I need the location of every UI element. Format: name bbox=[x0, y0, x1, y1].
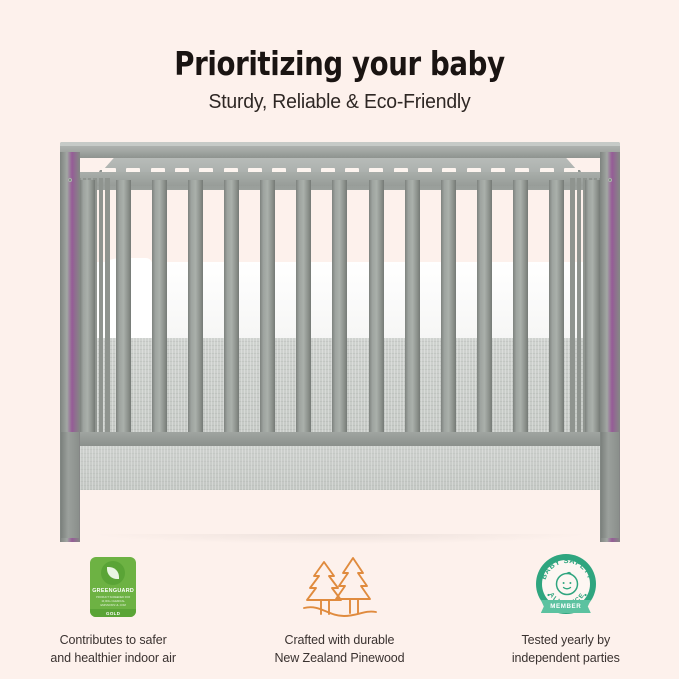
baby-safety-alliance-seal-icon: BABY SAFETY ALLIANCE M bbox=[535, 552, 597, 622]
crib-front-slats bbox=[80, 180, 600, 438]
greenguard-emblem bbox=[101, 561, 125, 585]
pine-trees-icon bbox=[298, 552, 380, 622]
crib-lower-panel bbox=[80, 446, 600, 490]
crib-leg-right bbox=[601, 432, 619, 538]
marketing-image: Prioritizing your baby Sturdy, Reliable … bbox=[0, 0, 679, 679]
badge-caption: Contributes to safer and healthier indoo… bbox=[50, 632, 175, 668]
badge-caption-line1: Contributes to safer bbox=[50, 632, 175, 650]
badge-baby-safety: BABY SAFETY ALLIANCE M bbox=[453, 552, 679, 668]
lower-panel-texture bbox=[80, 446, 600, 490]
greenguard-fineprint: PRODUCT SCREENED FOR 10,000+ CHEMICAL EM… bbox=[94, 596, 132, 608]
crib-bottom-rail bbox=[60, 432, 620, 446]
page-title: Prioritizing your baby bbox=[24, 46, 655, 82]
svg-text:BABY SAFETY: BABY SAFETY bbox=[539, 556, 595, 581]
badge-caption-line1: Crafted with durable bbox=[274, 632, 404, 650]
badge-caption-line1: Tested yearly by bbox=[512, 632, 620, 650]
badge-caption-line2: and healthier indoor air bbox=[50, 650, 175, 668]
floor-shadow bbox=[90, 534, 590, 544]
greenguard-gold-certificate-icon: GREENGUARD PRODUCT SCREENED FOR 10,000+ … bbox=[90, 552, 136, 622]
crib-leg-left bbox=[61, 432, 79, 538]
header-block: Prioritizing your baby Sturdy, Reliable … bbox=[0, 46, 679, 114]
crib-product-photo bbox=[60, 142, 620, 542]
badge-caption: Crafted with durable New Zealand Pinewoo… bbox=[274, 632, 404, 668]
seal-ribbon-text: MEMBER bbox=[550, 603, 581, 610]
page-subtitle: Sturdy, Reliable & Eco-Friendly bbox=[10, 91, 669, 114]
feature-badge-row: GREENGUARD PRODUCT SCREENED FOR 10,000+ … bbox=[0, 552, 679, 668]
badge-pinewood: Crafted with durable New Zealand Pinewoo… bbox=[226, 552, 452, 668]
seal-member-ribbon: MEMBER bbox=[541, 600, 591, 613]
badge-caption-line2: New Zealand Pinewood bbox=[274, 650, 404, 668]
greenguard-wordmark: GREENGUARD bbox=[92, 588, 134, 594]
badge-greenguard: GREENGUARD PRODUCT SCREENED FOR 10,000+ … bbox=[0, 552, 226, 668]
badge-caption: Tested yearly by independent parties bbox=[512, 632, 620, 668]
crib-top-rail bbox=[60, 142, 620, 158]
badge-caption-line2: independent parties bbox=[512, 650, 620, 668]
crib-top-rail-edge bbox=[60, 142, 620, 146]
greenguard-tier: GOLD bbox=[90, 609, 136, 617]
